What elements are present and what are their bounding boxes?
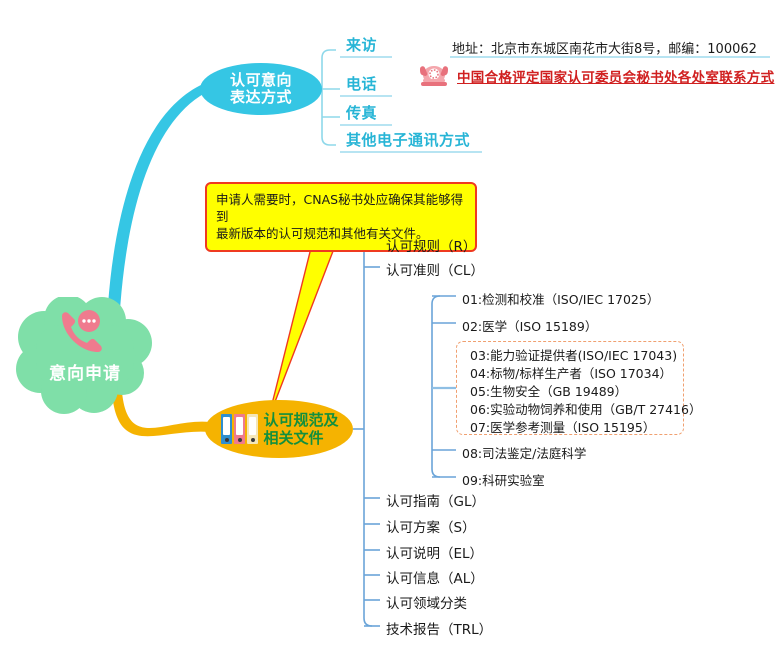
secretariat-contact-row[interactable]: 中国合格评定国家认可委员会秘书处各处室联系方式: [418, 63, 774, 89]
mindmap-canvas: 意向申请 认可意向 表达方式 来访 电话 传真 其他电子通讯方式 地址：北京市东…: [0, 0, 775, 650]
criteria-item-09[interactable]: 09:科研实验室: [462, 470, 545, 489]
node-accreditation-docs[interactable]: 认可规范及 相关文件: [205, 400, 353, 458]
node-docs-label-line2: 相关文件: [263, 429, 338, 447]
telephone-icon: [418, 63, 450, 89]
center-node[interactable]: 意向申请: [10, 297, 160, 417]
binder-cream: [247, 414, 258, 444]
binder-blue: [221, 414, 232, 444]
criteria-group-list: 03:能力验证提供者(ISO/IEC 17043) 04:标物/标样生产者（IS…: [470, 347, 701, 437]
docs-item-scheme[interactable]: 认可方案（S）: [386, 516, 476, 536]
criteria-item-02[interactable]: 02:医学（ISO 15189）: [462, 316, 597, 335]
node-contact-label-line2: 表达方式: [230, 89, 292, 106]
docs-item-criteria[interactable]: 认可准则（CL）: [386, 259, 484, 279]
docs-item-information[interactable]: 认可信息（AL）: [386, 567, 484, 587]
contact-item-fax[interactable]: 传真: [346, 102, 377, 123]
criteria-item-06[interactable]: 06:实验动物饲养和使用（GB/T 27416）: [470, 401, 701, 419]
contact-item-other[interactable]: 其他电子通讯方式: [346, 129, 470, 150]
contact-address-text: 地址：北京市东城区南花市大街8号，邮编：100062: [452, 38, 757, 57]
node-accreditation-docs-label: 认可规范及 相关文件: [263, 411, 338, 447]
docs-item-rules[interactable]: 认可规则（R）: [386, 235, 476, 255]
contact-item-phone[interactable]: 电话: [346, 73, 377, 94]
contact-item-visit[interactable]: 来访: [346, 34, 377, 55]
docs-item-explanation[interactable]: 认可说明（EL）: [386, 542, 483, 562]
edge-contact-spine: [322, 50, 336, 145]
docs-item-technical-report[interactable]: 技术报告（TRL）: [386, 618, 492, 638]
secretariat-contact-link[interactable]: 中国合格评定国家认可委员会秘书处各处室联系方式: [457, 66, 774, 86]
criteria-item-08[interactable]: 08:司法鉴定/法庭科学: [462, 443, 586, 462]
criteria-item-03[interactable]: 03:能力验证提供者(ISO/IEC 17043): [470, 347, 701, 365]
docs-item-field-classification[interactable]: 认可领域分类: [386, 592, 467, 612]
binder-pink: [234, 414, 245, 444]
binders-icon: [221, 414, 258, 444]
center-node-label: 意向申请: [10, 359, 160, 384]
criteria-item-01[interactable]: 01:检测和校准（ISO/IEC 17025）: [462, 289, 659, 308]
node-contact-label-line1: 认可意向: [230, 72, 292, 89]
edge-docs-spine: [364, 243, 372, 626]
criteria-item-04[interactable]: 04:标物/标样生产者（ISO 17034）: [470, 365, 701, 383]
criteria-item-07[interactable]: 07:医学参考测量（ISO 15195）: [470, 419, 701, 437]
node-contact-methods-label: 认可意向 表达方式: [230, 72, 292, 106]
criteria-item-05[interactable]: 05:生物安全（GB 19489）: [470, 383, 701, 401]
docs-item-guidance[interactable]: 认可指南（GL）: [386, 490, 485, 510]
phone-chat-icon: [56, 310, 104, 354]
node-docs-label-line1: 认可规范及: [263, 411, 338, 429]
node-contact-methods[interactable]: 认可意向 表达方式: [200, 63, 322, 115]
